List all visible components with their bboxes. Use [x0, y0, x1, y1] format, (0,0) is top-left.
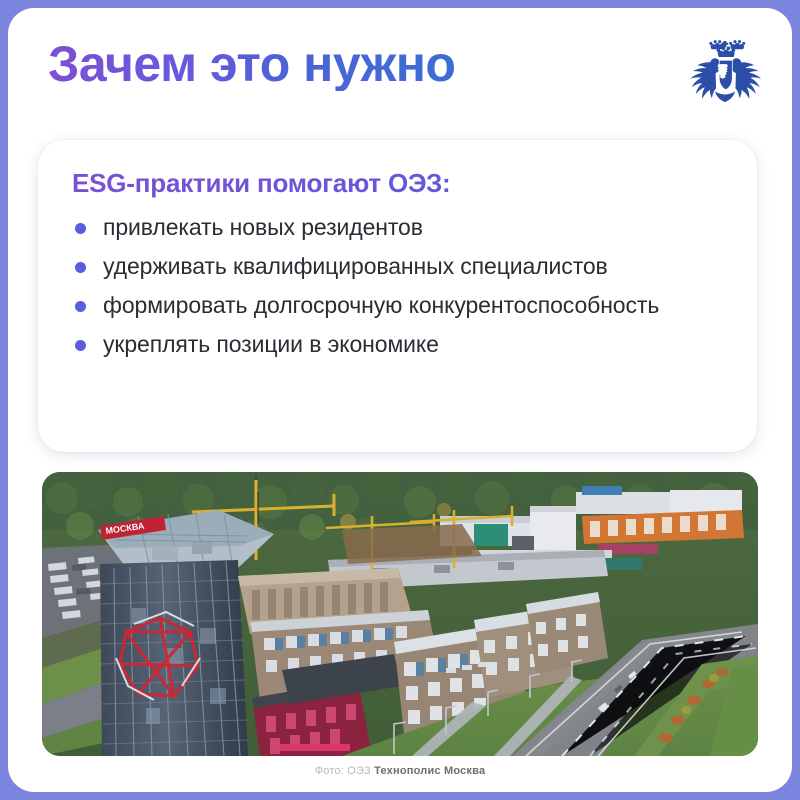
content-card: ESG-практики помогают ОЭЗ: привлекать но…	[38, 140, 757, 452]
photo-caption: Фото: ОЭЗ Технополис Москва	[8, 765, 792, 777]
photo-caption-prefix: Фото: ОЭЗ	[315, 765, 371, 777]
benefits-list: привлекать новых резидентов удерживать к…	[72, 213, 723, 360]
photo-caption-source: Технополис Москва	[374, 765, 485, 777]
bullet-dot-icon	[75, 340, 86, 351]
header: Зачем это нужно	[8, 8, 792, 130]
bullet-dot-icon	[75, 262, 86, 273]
page-title: Зачем это нужно	[48, 38, 455, 91]
list-item: укреплять позиции в экономике	[72, 330, 723, 360]
list-item-label: формировать долгосрочную конкурентоспосо…	[103, 292, 659, 318]
bullet-dot-icon	[75, 301, 86, 312]
slide-canvas: Зачем это нужно	[8, 8, 792, 792]
russian-double-headed-eagle-emblem	[686, 36, 764, 116]
slide-frame: Зачем это нужно	[0, 0, 800, 800]
list-item: привлекать новых резидентов	[72, 213, 723, 243]
list-item-label: удерживать квалифицированных специалисто…	[103, 253, 608, 279]
list-item: удерживать квалифицированных специалисто…	[72, 252, 723, 282]
list-item-label: привлекать новых резидентов	[103, 214, 423, 240]
list-item-label: укреплять позиции в экономике	[103, 331, 439, 357]
bullet-dot-icon	[75, 223, 86, 234]
card-heading: ESG-практики помогают ОЭЗ:	[72, 168, 723, 199]
list-item: формировать долгосрочную конкурентоспосо…	[72, 291, 723, 321]
photo-technopolis-moscow: МОСКВА	[42, 472, 758, 756]
